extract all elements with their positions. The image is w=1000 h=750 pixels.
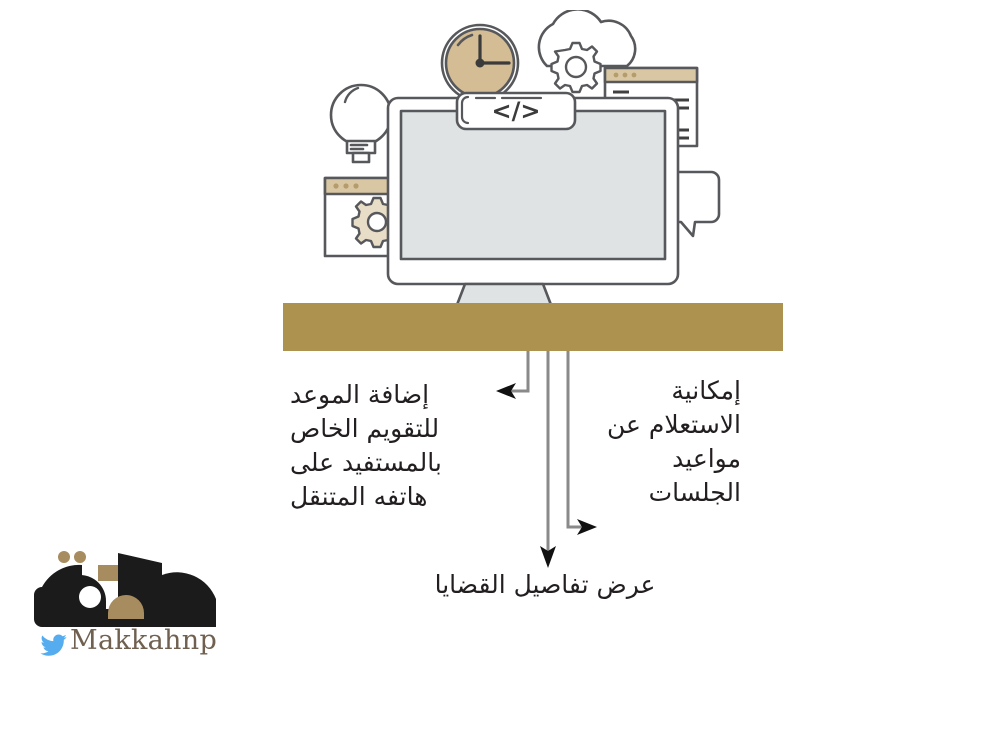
logo-wordmark [34, 553, 216, 627]
arrow-right-path [568, 351, 586, 527]
twitter-icon [41, 634, 67, 655]
code-badge-label: </> [492, 97, 541, 125]
logo-dot [74, 551, 86, 563]
branch-right-text: إمكانية الاستعلام عن مواعيد الجلسات [596, 374, 741, 510]
arrow-down-head [540, 546, 556, 568]
arrow-left-head [496, 383, 516, 399]
infographic-canvas: </> أبرز ما تتيحه الخدمات الجديدة إضافة … [0, 0, 1000, 750]
arrow-left-path [506, 351, 528, 391]
branch-bottom-text: عرض تفاصيل القضايا [400, 568, 690, 602]
banner-title-bar: أبرز ما تتيحه الخدمات الجديدة [283, 303, 783, 351]
illustration-desktop-workspace: </> [305, 10, 765, 315]
clock-icon [442, 25, 518, 101]
arrow-right-head [577, 519, 597, 535]
branch-left-text: إضافة الموعد للتقويم الخاص بالمستفيد على… [290, 378, 490, 514]
logo-dot [58, 551, 70, 563]
lightbulb-icon [331, 85, 391, 162]
banner-background [283, 303, 783, 351]
cloud-gear-icon [552, 43, 601, 92]
logo-handle-text: Makkahnp [70, 625, 217, 656]
